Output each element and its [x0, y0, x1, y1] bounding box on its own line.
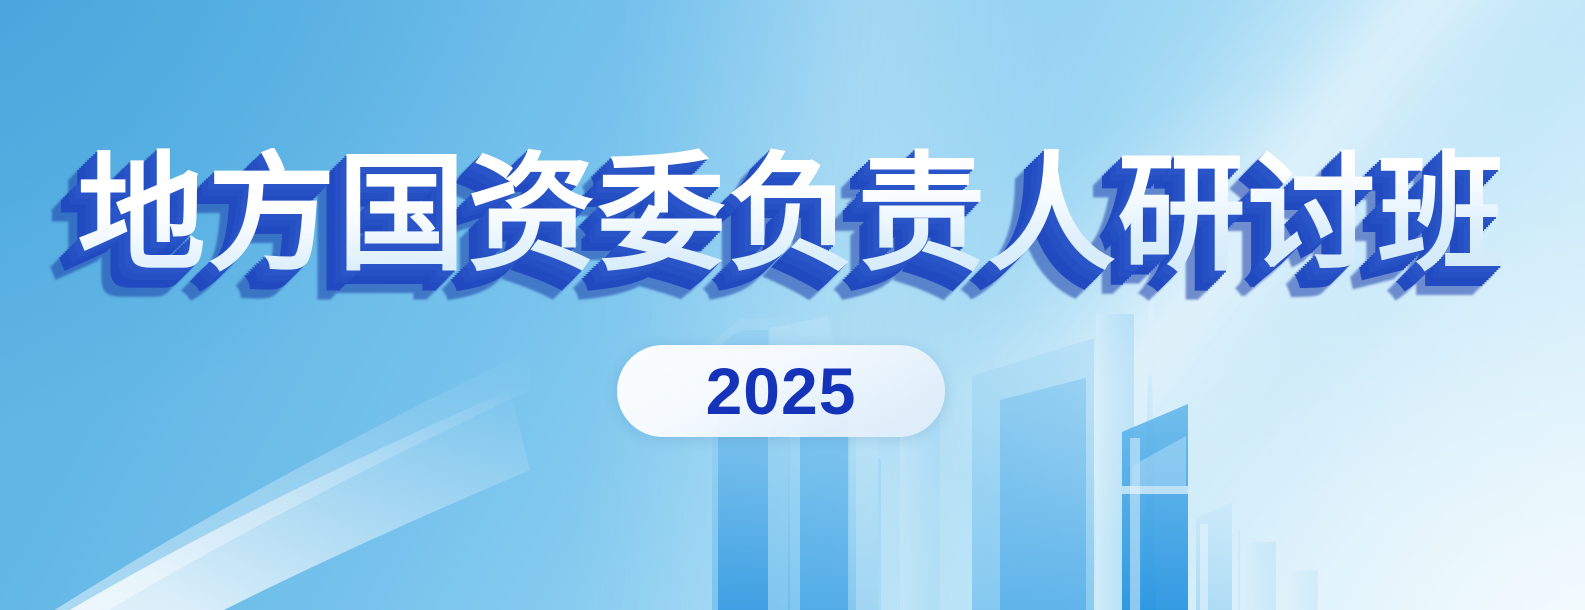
conference-banner: 地方国资委负责人研讨班 2025	[0, 0, 1585, 610]
year-badge-label: 2025	[706, 358, 857, 424]
year-badge: 2025	[617, 345, 945, 437]
swoosh-ribbon-graphic	[0, 240, 530, 610]
